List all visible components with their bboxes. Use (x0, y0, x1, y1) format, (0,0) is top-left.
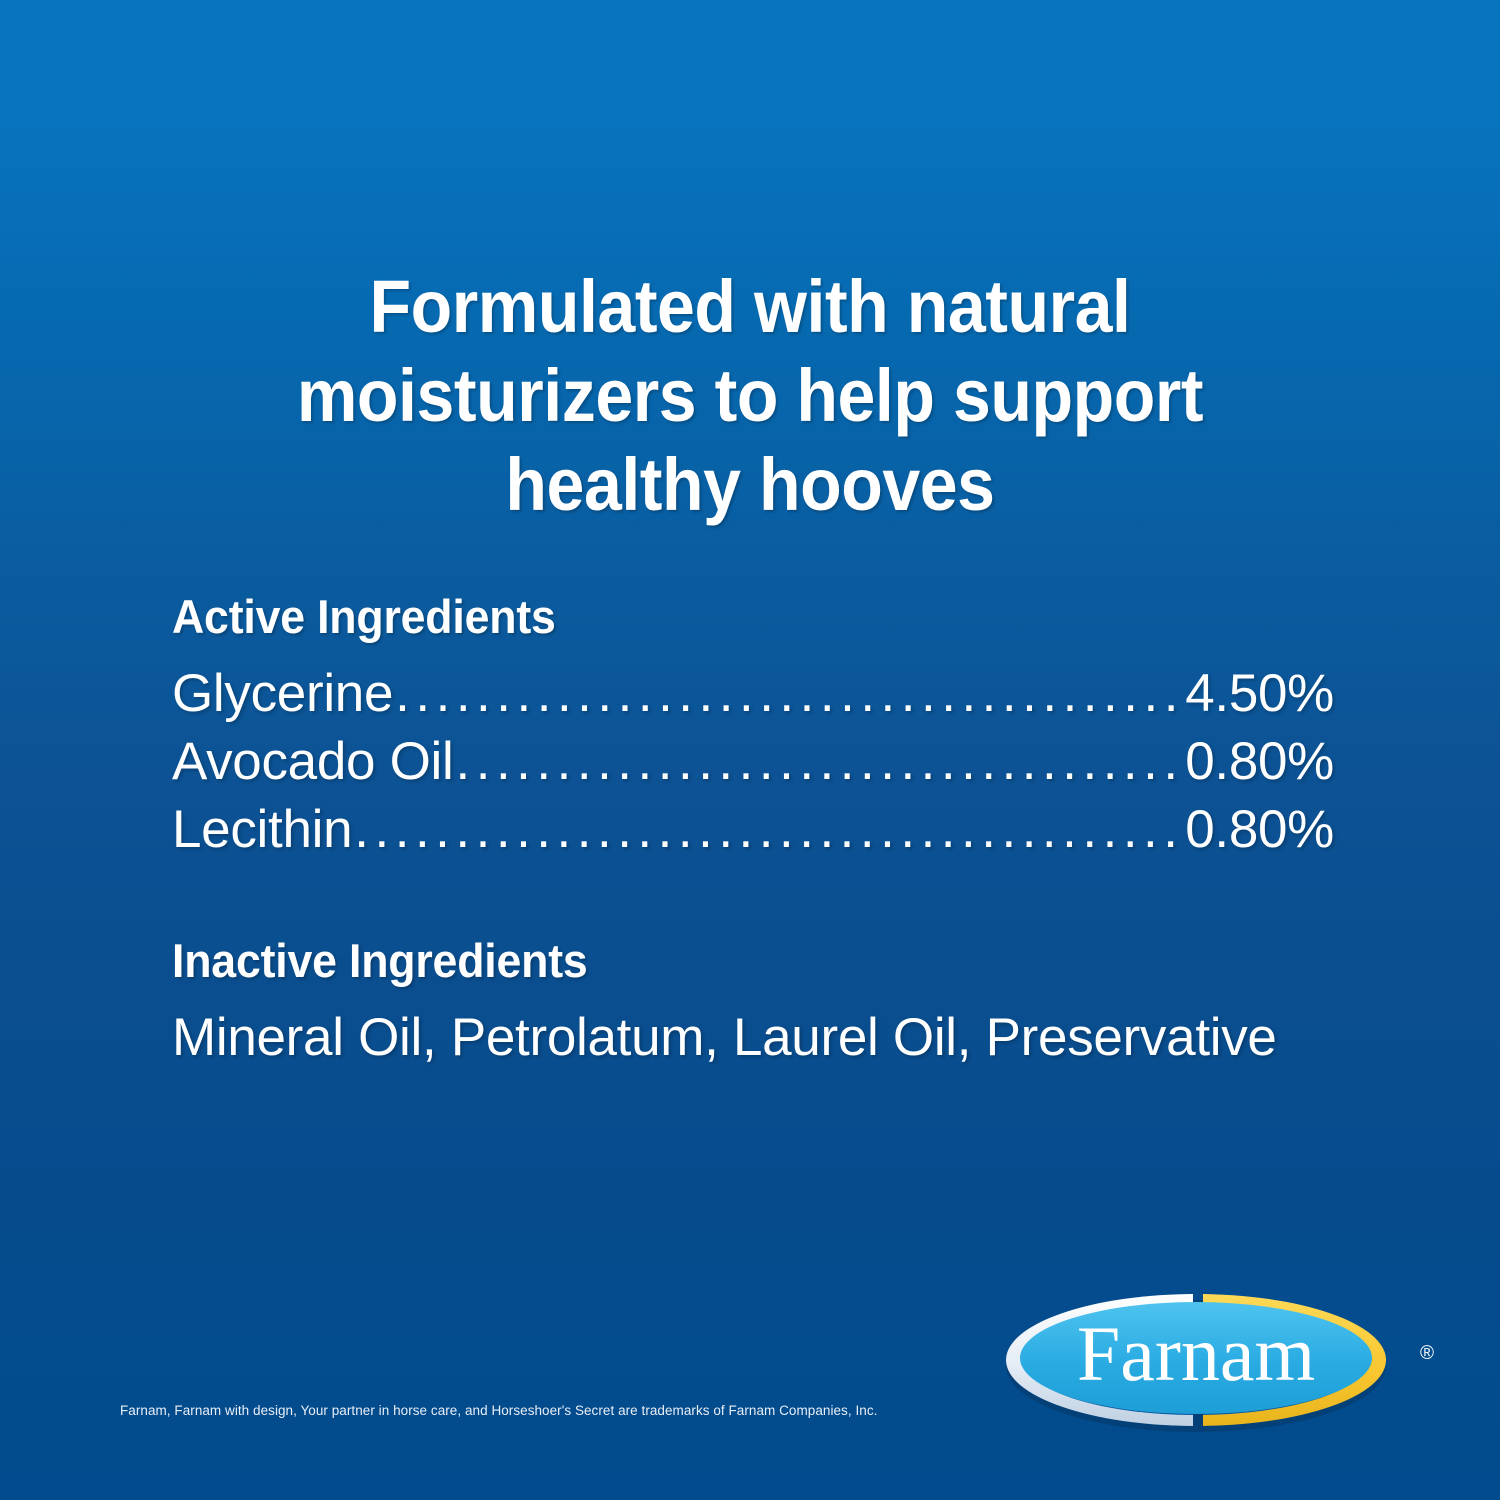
ingredient-value: 4.50% (1185, 660, 1334, 728)
ingredient-name: Glycerine (172, 660, 393, 728)
ingredient-row-lecithin: Lecithin ...............................… (172, 796, 1334, 864)
leader-dots: ........................................… (395, 660, 1183, 728)
inactive-ingredients-heading: Inactive Ingredients (172, 932, 1276, 990)
farnam-wordmark: Farnam (1077, 1310, 1315, 1397)
farnam-logo-icon: Farnam (1000, 1286, 1440, 1436)
ingredient-row-glycerine: Glycerine ..............................… (172, 660, 1334, 728)
farnam-logo: Farnam ® (1000, 1286, 1440, 1436)
ingredient-name: Lecithin (172, 796, 352, 864)
registered-trademark-icon: ® (1420, 1344, 1434, 1363)
ingredient-value: 0.80% (1185, 728, 1334, 796)
ingredient-row-avocado-oil: Avocado Oil ............................… (172, 728, 1334, 796)
ingredient-value: 0.80% (1185, 796, 1334, 864)
page-title: Formulated with natural moisturizers to … (60, 262, 1440, 529)
leader-dots: ........................................… (354, 796, 1183, 864)
trademark-notice: Farnam, Farnam with design, Your partner… (120, 1402, 877, 1420)
ingredients-panel: Formulated with natural moisturizers to … (0, 0, 1500, 1500)
active-ingredients-section: Active Ingredients Glycerine ...........… (172, 588, 1334, 864)
ingredient-name: Avocado Oil (172, 728, 454, 796)
active-ingredients-heading: Active Ingredients (172, 588, 1276, 646)
inactive-ingredients-section: Inactive Ingredients Mineral Oil, Petrol… (172, 932, 1334, 1072)
leader-dots: ........................................… (456, 728, 1184, 796)
inactive-ingredients-list: Mineral Oil, Petrolatum, Laurel Oil, Pre… (172, 1004, 1334, 1072)
